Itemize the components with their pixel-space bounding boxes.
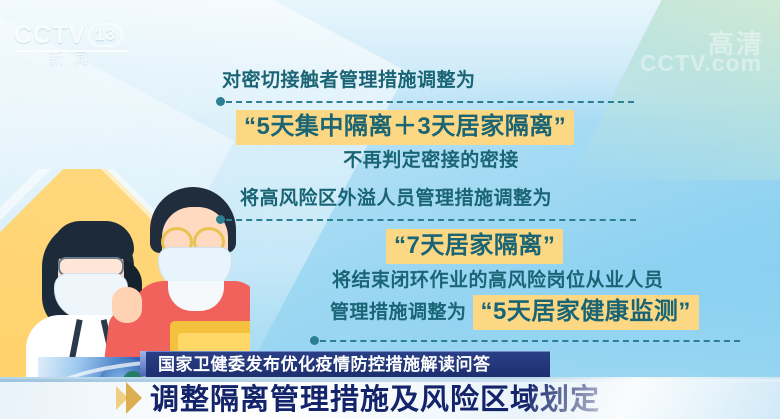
watermark-site: CCTV.com	[640, 50, 762, 77]
cctv-logo-underline	[16, 50, 128, 52]
measure-block-2: 将高风险区外溢人员管理措施调整为 “7天居家隔离”	[216, 186, 636, 264]
bullet-dot-icon	[216, 97, 225, 106]
bullet-dot-icon	[216, 215, 225, 224]
subtitle-bar: 国家卫健委发布优化疫情防控措施解读问答	[146, 351, 550, 377]
measure-2-highlight-wrap: “7天居家隔离”	[386, 229, 636, 264]
dashed-line	[226, 101, 634, 103]
measure-2-highlight: “7天居家隔离”	[386, 229, 563, 264]
measure-2-lead: 将高风险区外溢人员管理措施调整为	[240, 186, 636, 211]
headline-text: 调整隔离管理措施及风险区域划定	[150, 379, 600, 419]
measure-3-lead: 将结束闭环作业的高风险岗位从业人员	[332, 268, 740, 293]
measure-3-lead2: 管理措施调整为	[330, 300, 467, 325]
cctv-logo-wordmark: CCTV13	[14, 22, 132, 48]
subtitle-text: 国家卫健委发布优化疫情防控措施解读问答	[158, 352, 491, 377]
headline-bar-topline	[0, 379, 780, 382]
dashed-line	[320, 340, 740, 342]
measure-1-note: 不再判定密接的密接	[216, 148, 646, 173]
measure-2-divider	[216, 213, 636, 225]
measure-1-divider	[216, 95, 634, 107]
broadcast-frame: CCTV13 新闻 高清 CCTV.com	[0, 0, 780, 419]
bullet-dot-icon	[310, 336, 319, 345]
measure-block-1: 对密切接触者管理措施调整为 “5天集中隔离＋3天居家隔离” 不再判定密接的密接	[216, 68, 646, 173]
cctv-logo: CCTV13 新闻	[14, 22, 132, 70]
measure-3-divider	[310, 334, 740, 346]
dashed-line	[226, 219, 636, 221]
cctv-logo-text: CCTV	[14, 21, 86, 49]
raised-hand	[112, 287, 142, 323]
woman-hair-front	[52, 221, 134, 259]
measure-block-3: 将结束闭环作业的高风险岗位从业人员 管理措施调整为“5天居家健康监测”	[310, 268, 740, 346]
measure-1-lead: 对密切接触者管理措施调整为	[222, 68, 646, 93]
measure-3-row: 管理措施调整为“5天居家健康监测”	[330, 295, 740, 330]
measure-3-highlight: “5天居家健康监测”	[473, 295, 699, 330]
cctv-logo-number: 13	[88, 23, 123, 47]
measure-1-highlight-wrap: “5天集中隔离＋3天居家隔离”	[236, 110, 646, 145]
headline-arrow-icon	[126, 382, 142, 414]
measure-1-highlight: “5天集中隔离＋3天居家隔离”	[236, 110, 574, 145]
